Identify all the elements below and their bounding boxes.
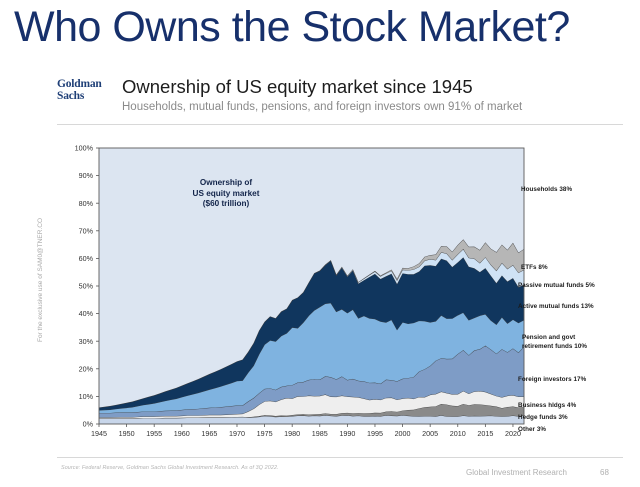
y-tick-label: 30% <box>79 337 94 346</box>
y-tick-label: 100% <box>75 144 94 153</box>
x-tick-label: 1980 <box>284 429 300 438</box>
slide: Who Owns the Stock Market? Goldman Sachs… <box>0 0 640 487</box>
series-label-other: Other 3% <box>518 426 546 434</box>
source-note: Source: Federal Reserve, Goldman Sachs G… <box>61 464 279 472</box>
x-tick-label: 1945 <box>91 429 107 438</box>
x-tick-label: 1955 <box>146 429 162 438</box>
divider-top <box>57 124 623 125</box>
y-tick-label: 90% <box>79 171 94 180</box>
x-tick-label: 1990 <box>339 429 355 438</box>
series-label-etfs: ETFs 8% <box>521 264 548 272</box>
chart-subtitle: Households, mutual funds, pensions, and … <box>122 100 522 114</box>
y-tick-label: 50% <box>79 282 94 291</box>
callout-line-1: Ownership of <box>160 178 292 189</box>
footer-division: Global Investment Research <box>466 468 567 478</box>
goldman-sachs-logo: Goldman Sachs <box>57 79 119 102</box>
y-tick-label: 80% <box>79 199 94 208</box>
x-tick-label: 2000 <box>395 429 411 438</box>
exclusive-use-watermark: For the exclusive use of SAM0@TNER.CO <box>37 200 45 360</box>
x-tick-label: 1995 <box>367 429 383 438</box>
x-tick-label: 2015 <box>477 429 493 438</box>
x-tick-label: 2010 <box>450 429 466 438</box>
chart-title: Ownership of US equity market since 1945 <box>122 76 473 98</box>
x-tick-label: 1970 <box>229 429 245 438</box>
y-tick-label: 0% <box>83 420 94 429</box>
series-label-pension-govt: Pension and govt retirement funds 10% <box>522 334 608 351</box>
series-label-passive-mutual-funds: Passive mutual funds 5% <box>518 282 595 290</box>
y-tick-label: 20% <box>79 364 94 373</box>
x-tick-label: 1975 <box>257 429 273 438</box>
callout-line-2: US equity market <box>160 189 292 200</box>
series-label-foreign-investors: Foreign investors 17% <box>518 376 586 384</box>
series-label-active-mutual-funds: Active mutual funds 13% <box>518 303 594 311</box>
brand-line-2: Sachs <box>57 91 119 103</box>
callout-line-3: ($60 trillion) <box>160 199 292 210</box>
chart-callout: Ownership of US equity market ($60 trill… <box>160 178 292 210</box>
x-tick-label: 1965 <box>201 429 217 438</box>
x-tick-label: 1950 <box>119 429 135 438</box>
x-tick-label: 1985 <box>312 429 328 438</box>
x-tick-label: 2005 <box>422 429 438 438</box>
y-tick-label: 10% <box>79 392 94 401</box>
series-label-hedge-funds: Hedge funds 3% <box>518 414 568 422</box>
x-tick-label: 1960 <box>174 429 190 438</box>
footer-page-number: 68 <box>600 468 609 478</box>
series-label-households: Households 38% <box>521 186 572 194</box>
y-tick-label: 60% <box>79 254 94 263</box>
series-label-business-holdings: Business hldgs 4% <box>518 402 576 410</box>
page-title: Who Owns the Stock Market? <box>14 2 570 52</box>
divider-bottom <box>57 457 623 458</box>
y-tick-label: 70% <box>79 226 94 235</box>
y-tick-label: 40% <box>79 309 94 318</box>
brand-line-1: Goldman <box>57 78 102 90</box>
